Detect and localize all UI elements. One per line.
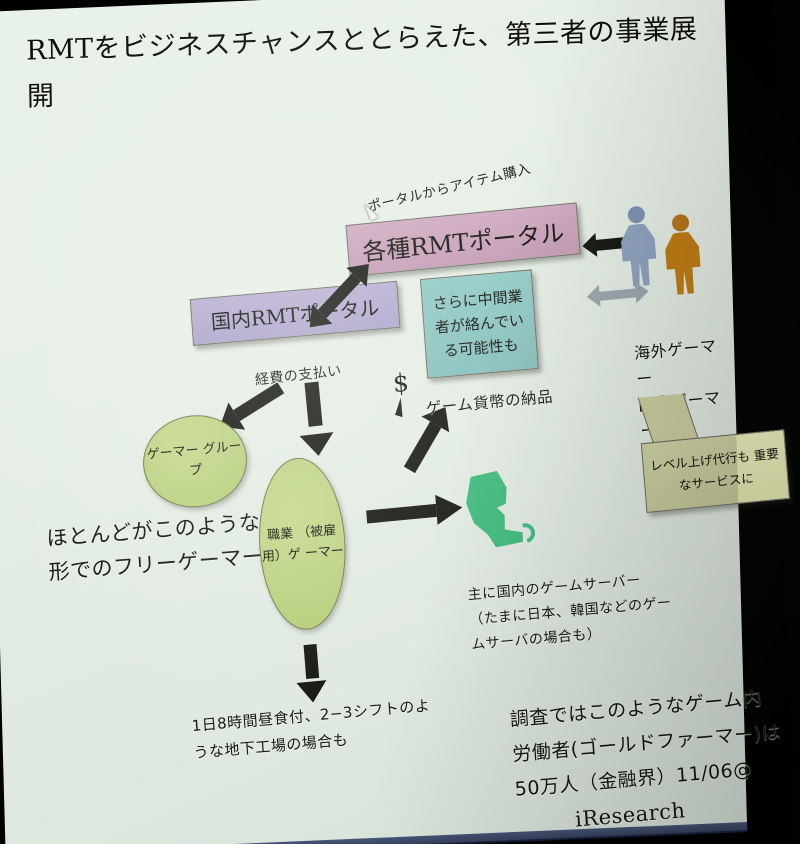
rmt-portal-box[interactable]: 各種RMTポータル <box>345 202 580 277</box>
arrow-to-factory-note <box>295 643 329 704</box>
label-dollar-sign: $ <box>392 368 411 398</box>
middleman-note-box[interactable]: さらに中間業 者が絡んでい る可能性も <box>420 269 539 379</box>
leveling-service-bubble[interactable]: レベル上げ代行も 重要なサービスに <box>641 429 790 513</box>
label-game-server: 主に国内のゲームサーバー （たまに日本、韓国などのゲー ムサーバの場合も） <box>467 561 732 658</box>
slide-content: RMTをビジネスチャンスととらえた、第三者の事業展開 ポータルからアイテム購入 … <box>0 0 747 844</box>
person-icon-domestic-gamer <box>662 213 702 296</box>
label-item-purchase: ポータルからアイテム購入 <box>366 157 533 215</box>
person-icon-overseas-gamer <box>618 205 658 288</box>
label-game-currency-delivery: ゲーム貨幣の納品 <box>425 385 554 419</box>
label-research-note: 調査ではこのようなゲーム内労働者(ゴールドファーマー)は50万人（金融界）11/… <box>506 645 790 844</box>
label-free-gamer: ほとんどがこのような形でのフリーゲーマー <box>46 504 280 590</box>
arrow-to-professional-gamer <box>296 381 335 456</box>
research-note-text: 調査ではこのようなゲーム内労働者(ゴールドファーマー)は50万人（金融界）11/… <box>509 687 782 801</box>
projection-screen: RMTをビジネスチャンスととらえた、第三者の事業展開 ポータルからアイテム購入 … <box>0 0 747 844</box>
arrow-gamer-to-game-server <box>365 492 463 531</box>
game-avatar-icon <box>459 469 524 555</box>
photo-of-projected-slide: RMTをビジネスチャンスととらえた、第三者の事業展開 ポータルからアイテム購入 … <box>0 0 800 844</box>
label-underground-factory: 1日8時間昼食付、2−3シフトのような地下工場の場合も <box>191 692 444 767</box>
slide-title: RMTをビジネスチャンスととらえた、第三者の事業展開 <box>26 7 707 121</box>
